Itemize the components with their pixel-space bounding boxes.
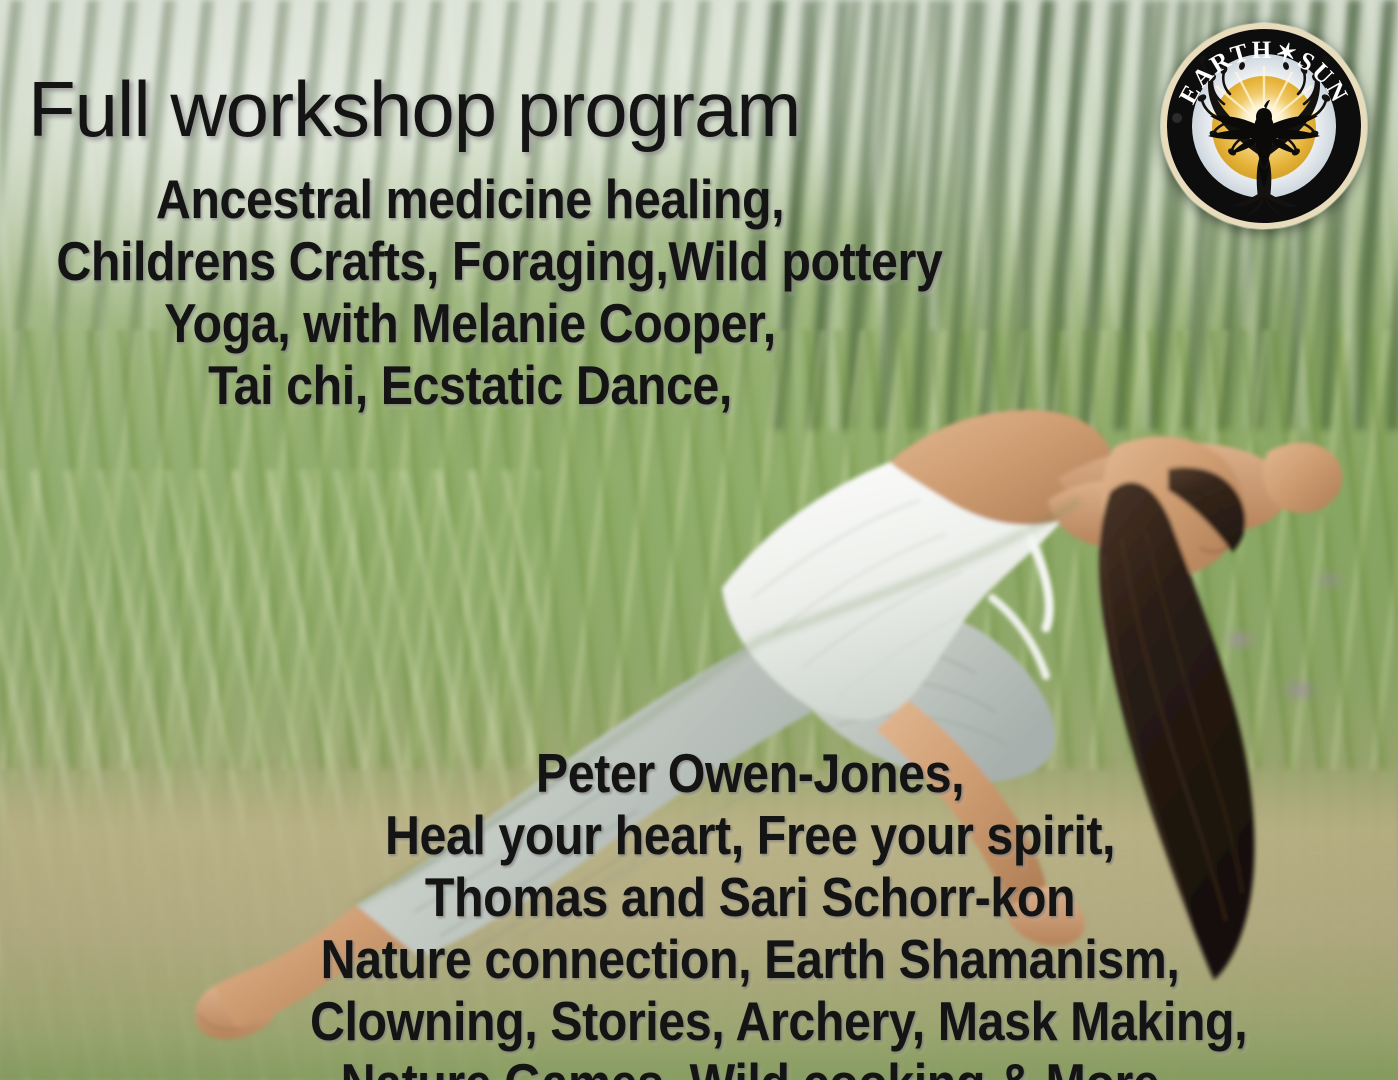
page-title: Full workshop program — [28, 64, 800, 155]
program-list-top: Ancestral medicine healing, Childrens Cr… — [0, 168, 940, 416]
program-line: Clowning, Stories, Archery, Mask Making, — [310, 990, 1190, 1052]
hand — [1263, 443, 1342, 513]
program-line: Yoga, with Melanie Cooper, — [56, 292, 883, 354]
earth-sun-logo[interactable]: EARTH✶SUN — [1160, 22, 1368, 230]
program-line: Thomas and Sari Schorr-kon — [310, 866, 1190, 928]
program-line: Childrens Crafts, Foraging,Wild pottery — [56, 230, 883, 292]
program-line: Nature Games, Wild cooking & More — [310, 1052, 1190, 1080]
program-line: Peter Owen-Jones, — [310, 742, 1190, 804]
program-line: Tai chi, Ecstatic Dance, — [56, 354, 883, 416]
logo-notch — [1172, 113, 1182, 123]
program-line: Nature connection, Earth Shamanism, — [310, 928, 1190, 990]
program-line: Heal your heart, Free your spirit, — [310, 804, 1190, 866]
program-list-bottom: Peter Owen-Jones, Heal your heart, Free … — [250, 742, 1250, 1080]
program-line: Ancestral medicine healing, — [56, 168, 883, 230]
poster-root: EARTH✶SUN Full workshop program Ancestra… — [0, 0, 1398, 1080]
